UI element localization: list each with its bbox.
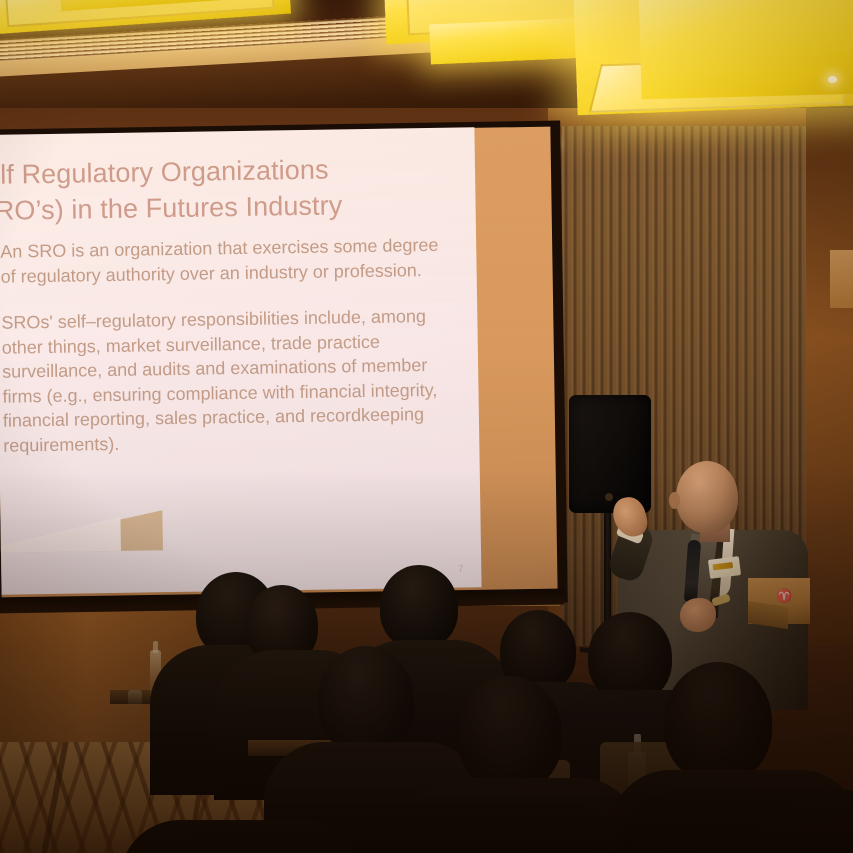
presenter-mic-hand <box>680 598 716 632</box>
presenter-name-badge <box>708 556 741 579</box>
audience-shoulders <box>620 790 853 853</box>
audience-shoulders <box>120 820 360 853</box>
slide-bullet-text: SROs' self–regulatory responsibilities i… <box>1 306 437 455</box>
large-ceiling-light-box <box>638 0 853 99</box>
presenter-ear <box>669 492 680 509</box>
slide-decorative-triangle-overlay <box>0 517 121 553</box>
far-right-wall <box>806 86 853 646</box>
audience-head <box>588 612 672 702</box>
audience-head <box>380 565 458 649</box>
badge-logo-icon <box>713 562 734 570</box>
slide-bullet-text: An SRO is an organization that exercises… <box>0 235 438 286</box>
water-bottle-neck <box>153 641 158 653</box>
audience-head <box>318 646 414 754</box>
slide-body: An SRO is an organization that exercises… <box>0 233 462 481</box>
speaker-driver-icon <box>605 493 613 501</box>
conference-presentation-photo: Self Regulatory Organizations (SRO’s) in… <box>0 0 853 853</box>
slide-bullet: An SRO is an organization that exercises… <box>0 233 459 290</box>
presenter-head <box>676 461 738 533</box>
pa-loudspeaker <box>569 395 651 513</box>
audience-head <box>664 662 772 782</box>
audience-shoulders <box>330 800 620 853</box>
audience-head <box>458 676 562 792</box>
slide-bullet: SROs' self–regulatory responsibilities i… <box>0 304 461 459</box>
drinking-glass <box>128 690 142 708</box>
slide-title-line-2: (SRO’s) in the Futures Industry <box>0 185 468 229</box>
lectern-logo-icon: ♈ <box>776 588 792 604</box>
slide-number: 7 <box>458 563 463 573</box>
wall-picture-frame <box>830 250 853 308</box>
recessed-downlight <box>828 76 837 83</box>
presentation-slide: Self Regulatory Organizations (SRO’s) in… <box>0 127 482 594</box>
slide-title: Self Regulatory Organizations (SRO’s) in… <box>0 149 468 229</box>
projection-screen: Self Regulatory Organizations (SRO’s) in… <box>0 131 558 601</box>
